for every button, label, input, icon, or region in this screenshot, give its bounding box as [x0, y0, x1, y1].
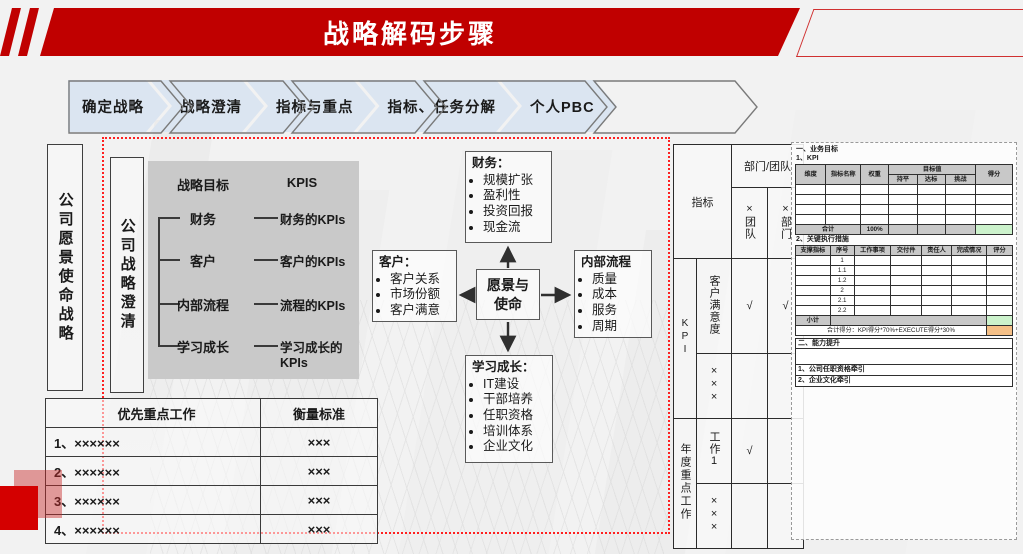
table-row: 1: [796, 256, 1013, 266]
th-target-stretch: 挑战: [945, 175, 975, 185]
row-work: ××××××: [74, 465, 120, 480]
pbc-kpi-table: 维度 指标名称 权重 目标值 得分 持平 达标 挑战 合计 100%: [795, 164, 1013, 235]
bsc-finance-title: 财务：: [472, 156, 545, 172]
work-cell: 4、××××××: [46, 515, 261, 544]
kpi-label: 流程的KPIs: [280, 295, 372, 314]
cell[interactable]: [921, 286, 951, 296]
kpi-connector-line: [254, 345, 278, 347]
cell[interactable]: [854, 296, 891, 306]
cell[interactable]: [796, 185, 826, 195]
seq-cell: 1.1: [830, 266, 854, 276]
process-steps: 确定战略 战略澄清 指标与重点 指标、任务分解 个人PBC: [68, 80, 599, 132]
cell[interactable]: [952, 266, 987, 276]
bsc-finance-list: 规模扩张 盈利性 投资回报 现金流: [472, 173, 545, 236]
work-cell: 1、××××××: [46, 428, 261, 457]
cell[interactable]: [891, 266, 921, 276]
table-formula-row: 合计得分：KPI得分*70%+EXECUTE得分*30%: [796, 326, 1013, 336]
bsc-learning-title: 学习成长：: [472, 360, 546, 376]
work-cell: 3、××××××: [46, 486, 261, 515]
kpi-connector-line: [254, 303, 278, 305]
cell[interactable]: [945, 185, 975, 195]
goal-label: 财务: [162, 209, 244, 228]
cell[interactable]: [796, 256, 831, 266]
row-work: ××××××: [74, 523, 120, 538]
table-header-row: 指标 部门/团队: [674, 145, 804, 188]
cell[interactable]: [861, 215, 889, 225]
cell[interactable]: [917, 185, 945, 195]
list-item: 质量: [592, 272, 645, 288]
process-step-3[interactable]: 指标与重点: [246, 80, 376, 132]
bsc-customer-box: 客户： 客户关系 市场份额 客户满意: [372, 250, 457, 322]
bsc-learning-growth-box: 学习成长： IT建设 干部培养 任职资格 培训体系 企业文化: [465, 355, 553, 463]
work-item-cell: ×××: [697, 484, 732, 549]
cell[interactable]: [945, 195, 975, 205]
list-item: 周期: [592, 319, 645, 335]
th-name: 指标名称: [826, 165, 861, 185]
bsc-center-box: 愿景与使命: [476, 269, 540, 320]
process-step-4[interactable]: 指标、任务分解: [358, 80, 519, 132]
cell[interactable]: [921, 306, 951, 316]
personal-pbc-sheet: 一、业务目标 1、KPI 维度 指标名称 权重 目标值 得分 持平 达标 挑战 …: [791, 142, 1017, 540]
row-work: ××××××: [74, 436, 120, 451]
table-total-row: 合计 100%: [796, 225, 1013, 235]
cell[interactable]: [891, 306, 921, 316]
cell[interactable]: [986, 286, 1012, 296]
kpi-connector-line: [254, 259, 278, 261]
work-team-check[interactable]: √: [732, 419, 768, 484]
cell[interactable]: [921, 276, 951, 286]
list-item: 市场份额: [390, 287, 450, 303]
table-subtotal-row: 小计: [796, 316, 1013, 326]
list-item: 客户关系: [390, 272, 450, 288]
col-header-work: 优先重点工作: [46, 399, 261, 428]
cell[interactable]: [976, 185, 1013, 195]
cell[interactable]: [891, 286, 921, 296]
cell[interactable]: [976, 205, 1013, 215]
section-name: 年度重点工作: [679, 443, 691, 521]
bsc-process-title: 内部流程: [581, 255, 645, 271]
cell[interactable]: [952, 256, 987, 266]
th-target: 目标值: [889, 165, 976, 175]
col-header-indicator: 指标: [674, 145, 732, 259]
pbc-ability-item-1: 1、公司任职资格牵引: [795, 365, 1013, 376]
subtotal-label: 小计: [796, 316, 831, 326]
list-item: 任职资格: [483, 408, 546, 424]
bsc-finance-box: 财务： 规模扩张 盈利性 投资回报 现金流: [465, 151, 552, 243]
cell[interactable]: [921, 296, 951, 306]
table-header-row: 支撑指标 序号 工作事项 交付件 责任人 完成情况 评分: [796, 246, 1013, 256]
table-row: [796, 205, 1013, 215]
slide-canvas: 战略解码步骤 确定战略 战略澄清 指标与重点 指标、任务分解 个人PBC 公司愿…: [0, 0, 1023, 554]
column-header-goals: 战略目标: [162, 175, 244, 194]
section-name: KPI: [680, 318, 691, 357]
dept-label: 部门: [779, 216, 791, 240]
kpi-item: ×××: [708, 365, 720, 404]
list-item: 企业文化: [483, 439, 546, 455]
work-team-check[interactable]: [732, 484, 768, 549]
table-row: KPI 客户满意度 √ √: [674, 259, 804, 354]
goal-label: 内部流程: [162, 295, 244, 314]
list-item: 服务: [592, 303, 645, 319]
pbc-section-1-title: 一、业务目标: [796, 146, 1013, 154]
page-title: 战略解码步骤: [40, 8, 780, 56]
table-row: [796, 185, 1013, 195]
subtotal-score-cell[interactable]: [986, 316, 1012, 326]
section-label-annual-work: 年度重点工作: [674, 419, 697, 549]
kpi-item-cell: ×××: [697, 354, 732, 419]
process-step-label: 战略澄清: [180, 96, 242, 117]
cell[interactable]: [854, 276, 891, 286]
cell[interactable]: [945, 205, 975, 215]
dept-mark: ×: [782, 203, 788, 215]
th-seq: 序号: [830, 246, 854, 256]
cell[interactable]: [796, 296, 831, 306]
cell[interactable]: [921, 266, 951, 276]
list-item: 客户满意: [390, 303, 450, 319]
table-row: [796, 215, 1013, 225]
cell[interactable]: [796, 266, 831, 276]
table-row: 2.2: [796, 306, 1013, 316]
seq-cell: 2.2: [830, 306, 854, 316]
th-score: 得分: [976, 165, 1013, 185]
cell[interactable]: [952, 296, 987, 306]
cell: [830, 316, 986, 326]
pbc-sub-2-title: 2、关键执行措施: [796, 236, 1013, 244]
cell[interactable]: [917, 215, 945, 225]
list-item: 培训体系: [483, 424, 546, 440]
pbc-sub-1-title: 1、KPI: [796, 155, 1013, 163]
process-step-label: 个人PBC: [530, 96, 595, 117]
cell[interactable]: [986, 276, 1012, 286]
process-step-1[interactable]: 确定战略: [68, 80, 168, 132]
cell[interactable]: [854, 286, 891, 296]
cell[interactable]: [976, 215, 1013, 225]
th-status: 完成情况: [952, 246, 987, 256]
cell[interactable]: [976, 195, 1013, 205]
cell[interactable]: [889, 185, 917, 195]
cell[interactable]: [861, 195, 889, 205]
cell[interactable]: [917, 195, 945, 205]
th-target-meet: 达标: [917, 175, 945, 185]
process-step-label: 确定战略: [82, 96, 144, 117]
kpi-allocation-table: 指标 部门/团队 × 团队 × 部门 KPI 客户满意度 √ √: [673, 144, 804, 549]
table-row: 2.1: [796, 296, 1013, 306]
table-row: 4、×××××× ×××: [46, 515, 378, 544]
list-item: 成本: [592, 287, 645, 303]
list-item: 投资回报: [483, 204, 545, 220]
cell[interactable]: [826, 215, 861, 225]
list-item: 盈利性: [483, 188, 545, 204]
section-label-kpi: KPI: [674, 259, 697, 419]
table-row: 1.1: [796, 266, 1013, 276]
decorative-slash-icon: [18, 8, 39, 56]
cell[interactable]: [861, 185, 889, 195]
final-score-cell[interactable]: [986, 326, 1012, 336]
th-weight: 权重: [861, 165, 889, 185]
pbc-ability-spacer: [795, 349, 1013, 365]
total-score-cell[interactable]: [976, 225, 1013, 235]
pbc-ability-item-2: 2、企业文化牵引: [795, 376, 1013, 387]
team-label: 团队: [743, 216, 755, 240]
work-item-cell: 工作1: [697, 419, 732, 484]
team-mark: ×: [746, 203, 752, 215]
cell[interactable]: [891, 276, 921, 286]
cell[interactable]: [796, 306, 831, 316]
standard-cell: ×××: [261, 515, 378, 544]
kpi-item-cell: 客户满意度: [697, 259, 732, 354]
bsc-customer-list: 客户关系 市场份额 客户满意: [379, 272, 450, 319]
table-row: 2: [796, 286, 1013, 296]
tree-trunk-line: [158, 217, 160, 345]
strategy-goal-kpi-panel: 战略目标 KPIS 财务 客户 内部流程 学习成长 财务的KPIs 客户的KPI…: [148, 161, 359, 379]
cell[interactable]: [921, 256, 951, 266]
pbc-exec-table: 支撑指标 序号 工作事项 交付件 责任人 完成情况 评分 1 1.1 1.2 2…: [795, 245, 1013, 336]
list-item: 干部培养: [483, 392, 546, 408]
th-rating: 评分: [986, 246, 1012, 256]
cell[interactable]: [945, 215, 975, 225]
bsc-customer-title: 客户：: [379, 255, 450, 271]
row-number: 4、: [54, 523, 74, 538]
cell[interactable]: [891, 296, 921, 306]
banner-outline-accent: [796, 9, 1023, 57]
th-task: 工作事项: [854, 246, 891, 256]
decorative-square-solid: [0, 486, 38, 530]
cell[interactable]: [826, 205, 861, 215]
cell[interactable]: [796, 276, 831, 286]
cell[interactable]: [796, 286, 831, 296]
row-work: ××××××: [74, 494, 120, 509]
table-row: 年度重点工作 工作1 √: [674, 419, 804, 484]
cell[interactable]: [889, 205, 917, 215]
cell: [917, 225, 945, 235]
th-dimension: 维度: [796, 165, 826, 185]
process-step-label: 指标、任务分解: [388, 96, 497, 117]
cell[interactable]: [986, 256, 1012, 266]
table-header-row: 优先重点工作 衡量标准: [46, 399, 378, 428]
cell[interactable]: [826, 195, 861, 205]
bsc-process-list: 质量 成本 服务 周期: [581, 272, 645, 335]
goal-label: 学习成长: [162, 337, 244, 356]
bsc-learning-list: IT建设 干部培养 任职资格 培训体系 企业文化: [472, 377, 546, 455]
table-row: 2、×××××× ×××: [46, 457, 378, 486]
th-deliverable: 交付件: [891, 246, 921, 256]
cell: [889, 225, 917, 235]
process-step-label: 指标与重点: [276, 96, 354, 117]
cell[interactable]: [986, 266, 1012, 276]
cell: [945, 225, 975, 235]
vision-mission-strategy-box: 公司愿景使命战略: [47, 144, 83, 391]
seq-cell: 2.1: [830, 296, 854, 306]
bsc-internal-process-box: 内部流程 质量 成本 服务 周期: [574, 250, 652, 338]
cell[interactable]: [986, 296, 1012, 306]
table-row: 3、×××××× ×××: [46, 486, 378, 515]
work-cell: 2、××××××: [46, 457, 261, 486]
kpi-label: 客户的KPIs: [280, 251, 372, 270]
standard-cell: ×××: [261, 457, 378, 486]
work-item: ×××: [708, 495, 720, 534]
table-header-row: 维度 指标名称 权重 目标值 得分: [796, 165, 1013, 175]
col-header-team: × 团队: [732, 188, 768, 259]
table-row: 1、×××××× ×××: [46, 428, 378, 457]
list-item: 规模扩张: [483, 173, 545, 189]
th-target-flat: 持平: [889, 175, 917, 185]
kpi-label: 学习成长的KPIs: [280, 337, 350, 370]
total-formula: 合计得分：KPI得分*70%+EXECUTE得分*30%: [796, 326, 987, 336]
standard-cell: ×××: [261, 486, 378, 515]
table-row: [796, 195, 1013, 205]
cell[interactable]: [861, 205, 889, 215]
kpi-label: 财务的KPIs: [280, 209, 372, 228]
cell[interactable]: [952, 306, 987, 316]
row-number: 1、: [54, 436, 74, 451]
kpi-connector-line: [254, 217, 278, 219]
table-row: 1.2: [796, 276, 1013, 286]
cell[interactable]: [952, 276, 987, 286]
cell[interactable]: [854, 256, 891, 266]
total-label: 合计: [796, 225, 861, 235]
priority-work-table: 优先重点工作 衡量标准 1、×××××× ××× 2、×××××× ××× 3、…: [45, 398, 378, 544]
list-item: 现金流: [483, 220, 545, 236]
th-support-kpi: 支撑指标: [796, 246, 831, 256]
cell[interactable]: [917, 205, 945, 215]
work-item: 工作1: [708, 431, 720, 468]
column-header-kpis: KPIS: [258, 175, 346, 190]
th-owner: 责任人: [921, 246, 951, 256]
pbc-section-2-title: 二、能力提升: [795, 338, 1013, 349]
cell[interactable]: [826, 185, 861, 195]
cell[interactable]: [796, 215, 826, 225]
goal-label: 客户: [162, 251, 244, 270]
kpi-team-check[interactable]: [732, 354, 768, 419]
cell[interactable]: [952, 286, 987, 296]
cell[interactable]: [796, 205, 826, 215]
cell[interactable]: [986, 306, 1012, 316]
seq-cell: 2: [830, 286, 854, 296]
seq-cell: 1.2: [830, 276, 854, 286]
strategy-clarification-box: 公司战略澄清: [110, 157, 144, 393]
col-header-standard: 衡量标准: [261, 399, 378, 428]
cell[interactable]: [889, 195, 917, 205]
kpi-team-check[interactable]: √: [732, 259, 768, 354]
list-item: IT建设: [483, 377, 546, 393]
cell[interactable]: [889, 215, 917, 225]
cell[interactable]: [854, 306, 891, 316]
cell[interactable]: [854, 266, 891, 276]
cell[interactable]: [891, 256, 921, 266]
cell[interactable]: [796, 195, 826, 205]
kpi-item: 客户满意度: [708, 275, 720, 335]
standard-cell: ×××: [261, 428, 378, 457]
decorative-slash-icon: [0, 8, 21, 56]
total-weight: 100%: [861, 225, 889, 235]
seq-cell: 1: [830, 256, 854, 266]
